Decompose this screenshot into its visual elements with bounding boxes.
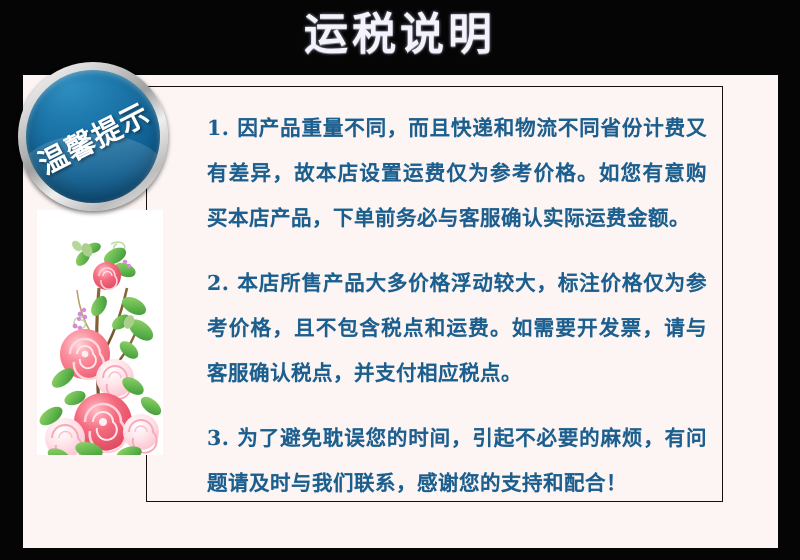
rose-bouquet-image	[37, 210, 163, 455]
rose-bouquet-icon	[37, 210, 163, 455]
page-title: 运税说明	[0, 2, 800, 68]
promo-banner: 运税说明 1. 因产品重量不同，而且快递和物流不同省份计费又有差异，故本店设置运…	[0, 0, 800, 560]
notice-item-3: 3. 为了避免耽误您的时间，引起不必要的麻烦，有问题请及时与我们联系，感谢您的支…	[207, 416, 707, 506]
notice-list: 1. 因产品重量不同，而且快递和物流不同省份计费又有差异，故本店设置运费仅为参考…	[207, 106, 707, 506]
notice-item-1: 1. 因产品重量不同，而且快递和物流不同省份计费又有差异，故本店设置运费仅为参考…	[207, 106, 707, 241]
badge-disc	[26, 70, 160, 203]
tips-badge: 温馨提示	[18, 62, 168, 211]
badge-gloss	[26, 134, 160, 203]
notice-item-2: 2. 本店所售产品大多价格浮动较大，标注价格仅为参考价格，且不包含税点和运费。如…	[207, 261, 707, 396]
